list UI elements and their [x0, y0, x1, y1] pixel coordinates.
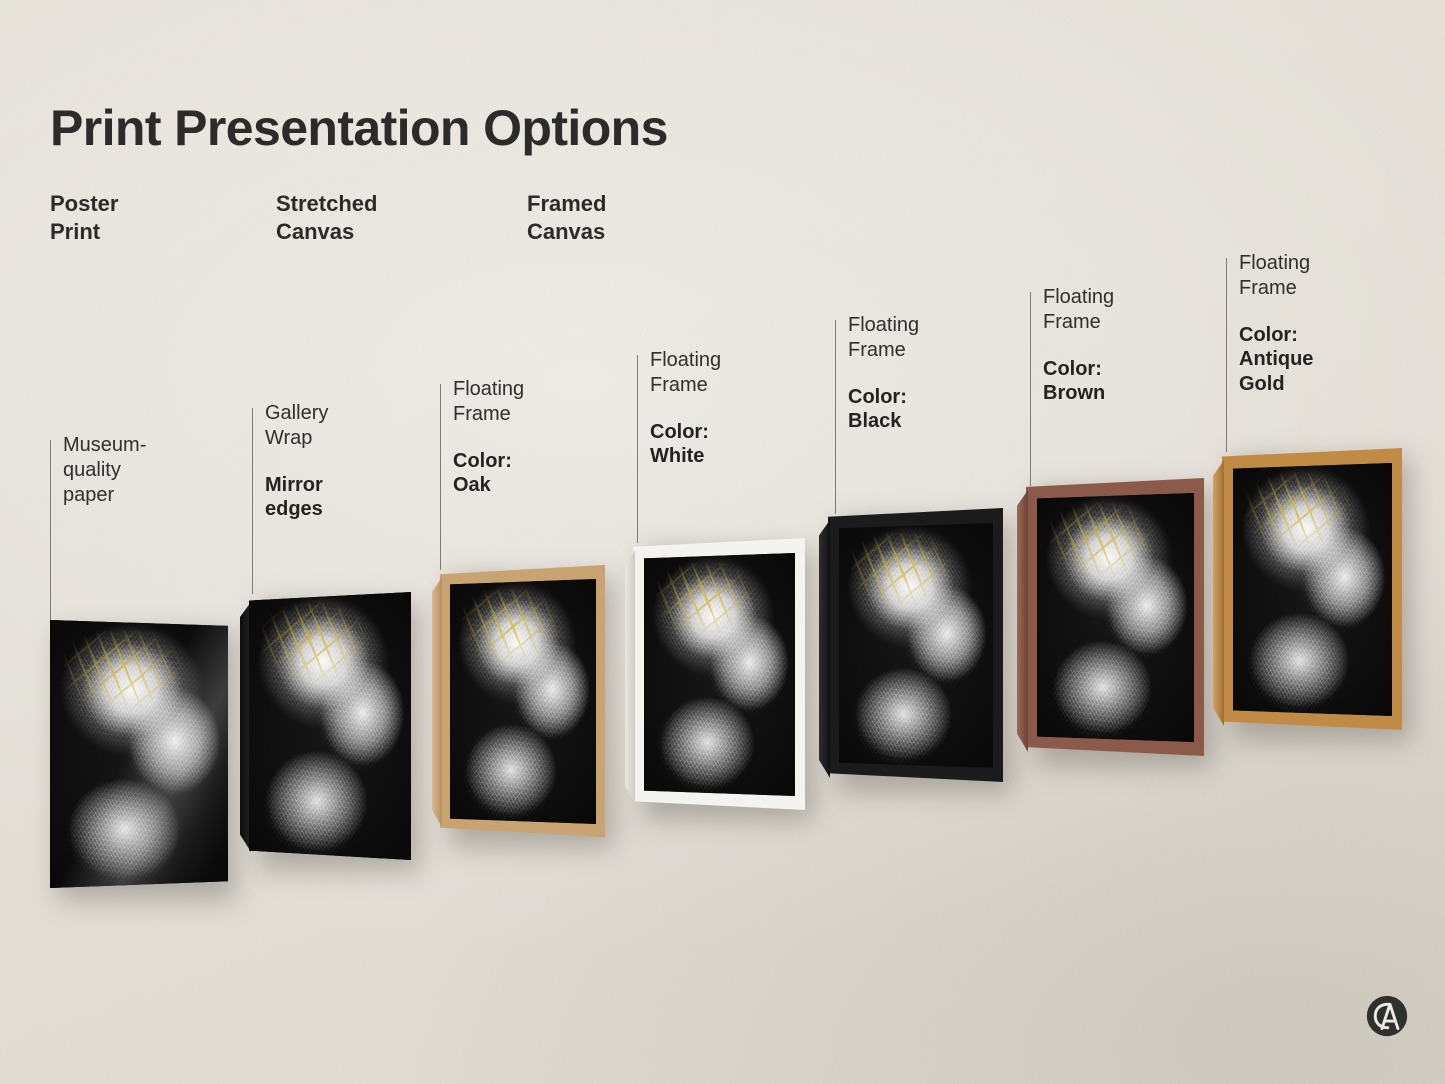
annotation-type-label: Museum- quality paper: [63, 433, 238, 507]
annotation-type-label: Floating Frame: [650, 348, 825, 398]
annotation-detail-label: Color: Black: [848, 385, 1023, 435]
canvas-surface: [644, 553, 795, 796]
annotation-detail-label: Color: Antique Gold: [1239, 323, 1414, 397]
annotation-detail-label: Color: White: [650, 420, 825, 470]
leader-line: [50, 440, 51, 630]
leader-line: [440, 384, 441, 570]
annotation-type-label: Floating Frame: [453, 377, 628, 427]
poster-surface: [50, 620, 228, 888]
canvas-surface: [1037, 493, 1194, 742]
artwork-framed-antique-gold[interactable]: [1222, 448, 1402, 730]
category-label-poster-print: Poster Print: [50, 190, 118, 246]
canvas-surface: [450, 579, 596, 824]
artwork-framed-white[interactable]: [633, 538, 805, 810]
ca-monogram-logo[interactable]: [1366, 995, 1408, 1037]
annotation-type-label: Floating Frame: [1239, 251, 1414, 301]
annotation-type-label: Gallery Wrap: [265, 401, 440, 451]
leader-line: [1030, 292, 1031, 486]
leader-line: [637, 355, 638, 543]
annotation-detail-label: Color: Brown: [1043, 357, 1218, 407]
portrait-artwork: [249, 592, 411, 860]
portrait-artwork: [644, 553, 795, 796]
canvas-surface: [249, 592, 411, 860]
leader-line: [252, 408, 253, 594]
leader-line: [1226, 258, 1227, 452]
artwork-poster-print[interactable]: [50, 620, 228, 888]
annotation-detail-label: Mirror edges: [265, 473, 440, 523]
annotation-detail-label: Color: Oak: [453, 449, 628, 499]
category-label-framed-canvas: Framed Canvas: [527, 190, 606, 246]
artwork-framed-brown[interactable]: [1026, 478, 1204, 756]
category-label-stretched-canvas: Stretched Canvas: [276, 190, 377, 246]
annotation-type-label: Floating Frame: [1043, 285, 1218, 335]
artwork-framed-oak[interactable]: [440, 565, 605, 837]
artwork-stretched-canvas[interactable]: [249, 592, 411, 860]
portrait-artwork: [450, 579, 596, 824]
canvas-surface: [839, 523, 993, 768]
annotation-type-label: Floating Frame: [848, 313, 1023, 363]
portrait-artwork: [839, 523, 993, 768]
portrait-artwork: [1233, 463, 1392, 716]
portrait-artwork: [50, 620, 228, 888]
canvas-surface: [1233, 463, 1392, 716]
leader-line: [835, 320, 836, 514]
page-title: Print Presentation Options: [50, 99, 668, 157]
artwork-framed-black[interactable]: [828, 508, 1003, 782]
portrait-artwork: [1037, 493, 1194, 742]
